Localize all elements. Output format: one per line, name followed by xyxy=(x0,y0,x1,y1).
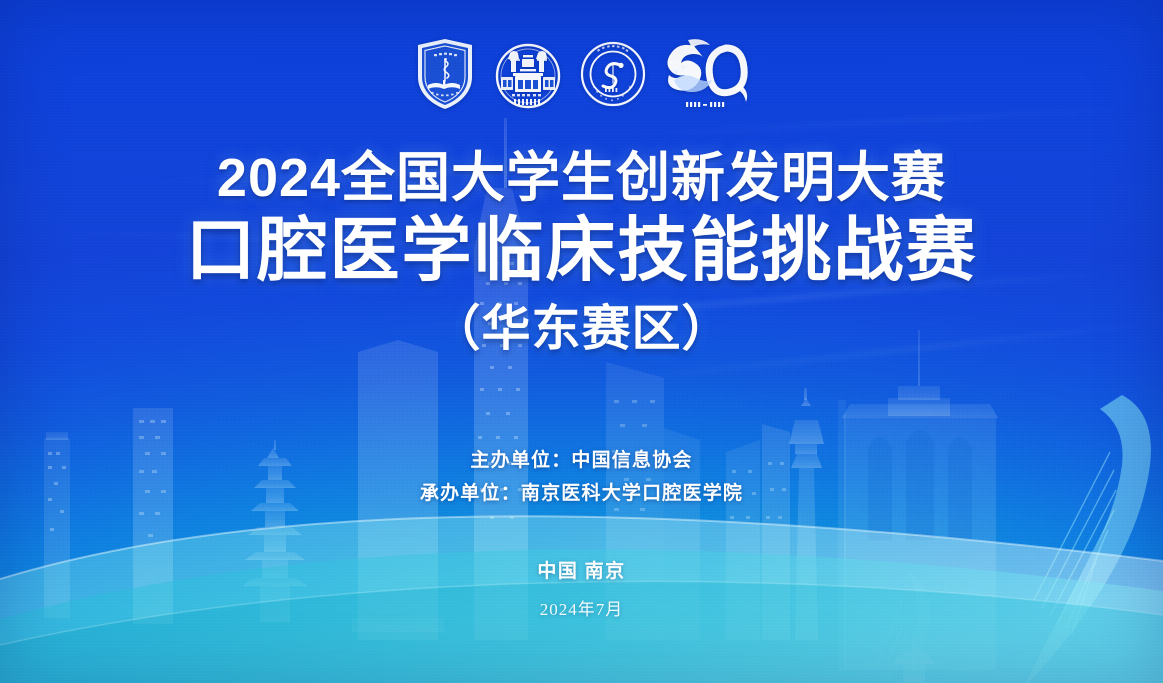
organizer-block: 主办单位：中国信息协会 承办单位：南京医科大学口腔医学院 xyxy=(0,444,1163,511)
event-main-title: 口腔医学临床技能挑战赛 xyxy=(0,212,1163,292)
event-series-title: 2024全国大学生创新发明大赛 xyxy=(0,148,1163,208)
event-banner: 2024全国大学生创新发明大赛 口腔医学临床技能挑战赛 （华东赛区） 主办单位：… xyxy=(0,0,1163,683)
fiftieth-anniversary-logo xyxy=(664,36,750,112)
place-date-block: 中国 南京 2024年7月 xyxy=(0,556,1163,620)
organizer-line: 主办单位：中国信息协会 xyxy=(0,444,1163,477)
co-organizer-line: 承办单位：南京医科大学口腔医学院 xyxy=(0,477,1163,510)
title-block: 2024全国大学生创新发明大赛 口腔医学临床技能挑战赛 （华东赛区） xyxy=(0,148,1163,359)
city-label: 中国 南京 xyxy=(0,556,1163,583)
event-region-title: （华东赛区） xyxy=(0,300,1163,359)
logo-row xyxy=(0,36,1163,112)
date-label: 2024年7月 xyxy=(0,595,1163,620)
stomatology-shield-logo xyxy=(414,37,476,111)
njmu-gate-logo xyxy=(494,39,562,109)
school-seal-logo xyxy=(580,39,646,109)
